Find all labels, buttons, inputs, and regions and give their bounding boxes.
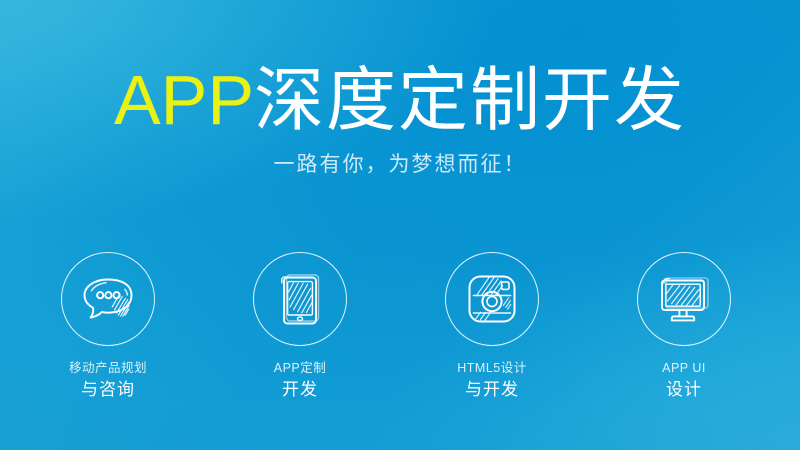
service-labels: APP定制 开发 bbox=[274, 362, 327, 398]
service-item-app-development[interactable]: APP定制 开发 bbox=[204, 252, 396, 427]
service-labels: HTML5设计 与开发 bbox=[457, 362, 526, 398]
service-label-main: 与开发 bbox=[457, 381, 526, 398]
service-label-main: 设计 bbox=[662, 381, 706, 398]
page-title: APP深度定制开发 bbox=[0, 58, 800, 142]
service-labels: 移动产品规划 与咨询 bbox=[69, 362, 147, 398]
promo-banner: APP深度定制开发 一路有你，为梦想而征！ bbox=[0, 0, 800, 450]
service-item-html5[interactable]: HTML5设计 与开发 bbox=[396, 252, 588, 427]
service-icon-circle bbox=[253, 252, 347, 346]
service-label-top: APP UI bbox=[662, 362, 706, 375]
service-icon-circle bbox=[637, 252, 731, 346]
service-list: 移动产品规划 与咨询 bbox=[0, 252, 800, 427]
service-icon-circle bbox=[445, 252, 539, 346]
title-accent-app: APP bbox=[114, 61, 254, 139]
service-item-consulting[interactable]: 移动产品规划 与咨询 bbox=[12, 252, 204, 427]
title-rest: 深度定制开发 bbox=[254, 61, 686, 139]
page-subtitle: 一路有你，为梦想而征！ bbox=[0, 150, 800, 180]
service-icon-circle bbox=[61, 252, 155, 346]
desktop-monitor-icon bbox=[653, 271, 715, 327]
camera-icon bbox=[462, 269, 522, 329]
speech-bubble-icon bbox=[78, 271, 138, 327]
tablet-device-icon bbox=[273, 269, 327, 329]
service-item-app-ui[interactable]: APP UI 设计 bbox=[588, 252, 780, 427]
service-label-main: 与咨询 bbox=[69, 381, 147, 398]
service-label-top: HTML5设计 bbox=[457, 362, 526, 375]
banner-content: APP深度定制开发 一路有你，为梦想而征！ bbox=[0, 0, 800, 450]
service-label-top: 移动产品规划 bbox=[69, 362, 147, 375]
service-labels: APP UI 设计 bbox=[662, 362, 706, 398]
service-label-top: APP定制 bbox=[274, 362, 327, 375]
service-label-main: 开发 bbox=[274, 381, 327, 398]
